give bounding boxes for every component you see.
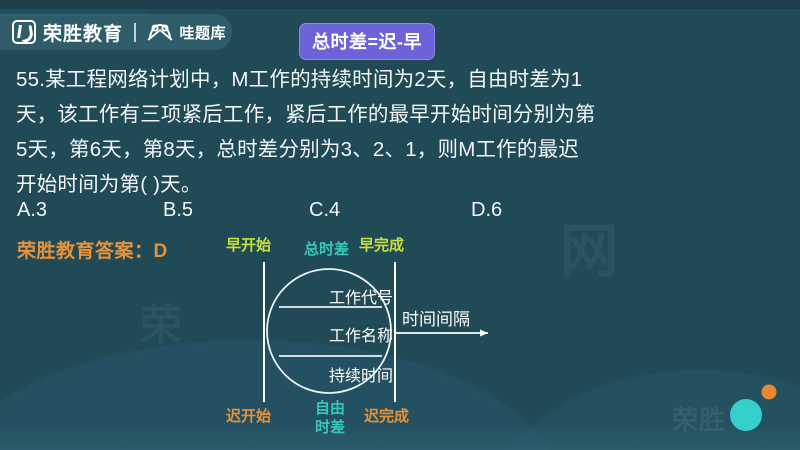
slide-canvas: 荣 网 荣胜 荣胜教育 哇题库 总时差=迟-早 55.某工程网络计划中，M工作的… [0, 0, 800, 450]
label-late-start: 迟开始 [226, 405, 271, 426]
label-early-finish: 早完成 [359, 234, 404, 255]
label-late-finish: 迟完成 [364, 405, 409, 426]
label-total-float: 总时差 [304, 238, 349, 259]
label-free-float-line1: 自由 [315, 397, 345, 418]
answer-label: 荣胜教育答案：D [17, 236, 168, 263]
logo-divider [134, 23, 136, 42]
node-work-code: 工作代号 [216, 284, 506, 308]
network-node-diagram: 早开始 总时差 早完成 时间间隔 迟开始 自由 时差 迟完成 工作代号 工作名称… [216, 234, 506, 440]
question-line-2: 天，该工作有三项紧后工作，紧后工作的最早开始时间分别为第 [16, 97, 596, 127]
watermark-left: 荣 [140, 292, 184, 353]
formula-badge: 总时差=迟-早 [299, 23, 435, 60]
option-c[interactable]: C.4 [309, 199, 340, 222]
watermark-bottom: 荣胜 [672, 400, 726, 437]
watermark-middle: 网 [560, 204, 620, 288]
question-line-3: 5天，第6天，第8天，总时差分别为3、2、1，则M工作的最迟 [16, 132, 579, 162]
brand-logo[interactable]: 荣胜教育 哇题库 [12, 18, 226, 46]
option-d[interactable]: D.6 [471, 199, 502, 222]
rongsheng-logo-icon [12, 20, 36, 44]
sub-brand-text: 哇题库 [180, 22, 227, 43]
node-work-name: 工作名称 [216, 322, 506, 346]
question-line-4: 开始时间为第( )天。 [16, 167, 202, 197]
option-a[interactable]: A.3 [17, 199, 47, 222]
frog-icon [147, 22, 173, 42]
top-strip [0, 0, 800, 9]
logo-text: 荣胜教育 [43, 19, 123, 46]
node-duration: 持续时间 [216, 362, 506, 386]
question-line-1: 55.某工程网络计划中，M工作的持续时间为2天，自由时差为1 [16, 62, 582, 92]
label-early-start: 早开始 [226, 234, 271, 255]
decor-dots [720, 378, 790, 438]
label-free-float-line2: 时差 [315, 416, 345, 437]
option-b[interactable]: B.5 [163, 199, 193, 222]
